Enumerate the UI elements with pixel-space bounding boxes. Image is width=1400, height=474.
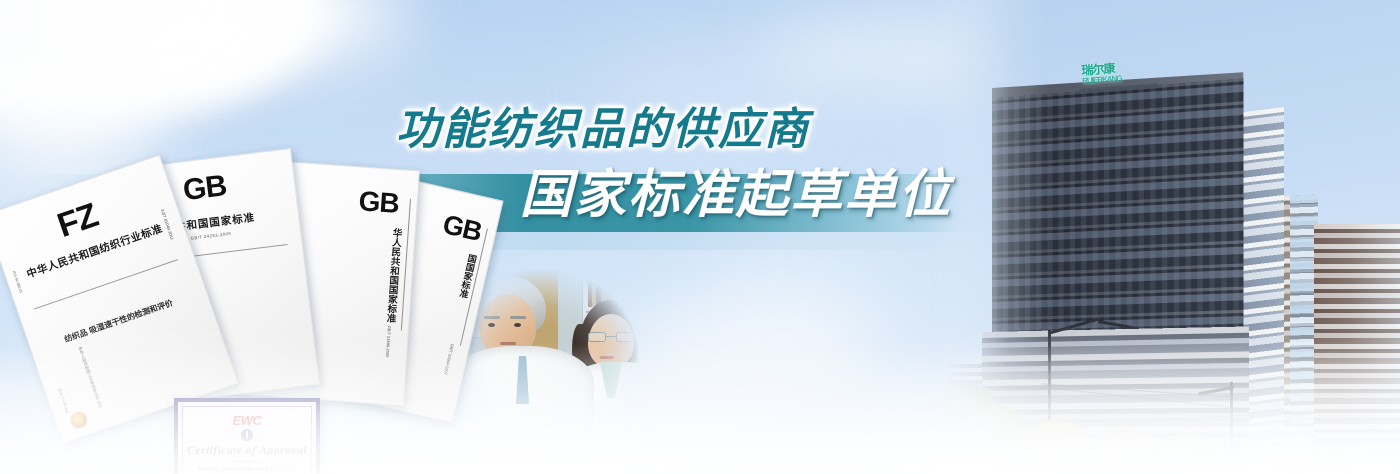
cloud-top-left-6 bbox=[120, 10, 250, 80]
certificate-company-name: Beijing Jisun High-tech Co., Ltd. bbox=[183, 466, 311, 473]
gb-logo-icon: GB bbox=[440, 211, 484, 246]
gb-logo-icon: GB bbox=[358, 187, 400, 218]
cloud-top-left-3 bbox=[150, 0, 410, 70]
eyeglasses-bridge bbox=[606, 336, 616, 337]
eyeglasses-lens-right bbox=[616, 332, 634, 342]
hero-banner: 瑞尔康 RUIERKANG bbox=[0, 0, 1400, 474]
fz-standard-issue-date: 2011-12-20 发布 bbox=[57, 387, 70, 414]
senior-scientist-brow-left bbox=[484, 316, 500, 319]
ewc-certificate-of-approval: EWC Certificate of Approval Awarded to B… bbox=[174, 398, 320, 474]
cloud-mid-right-2 bbox=[700, 250, 880, 330]
gb-standard-2-title: 华人民共和国国家标准 bbox=[382, 227, 403, 323]
cloud-top-left-2 bbox=[40, 0, 340, 90]
eyeglasses-lens-left bbox=[588, 332, 606, 342]
building-photo-bottom-fade bbox=[930, 324, 1400, 474]
certificate-heading: Certificate of Approval bbox=[183, 443, 311, 458]
rooftop-sign: 瑞尔康 RUIERKANG bbox=[1081, 59, 1157, 94]
headline-line-1: 功能纺织品的供应商 bbox=[0, 108, 1010, 152]
senior-scientist-brow-right bbox=[510, 316, 526, 319]
gb-standard-2-code: GB/T 21898-2008 bbox=[385, 326, 392, 358]
anchor-icon bbox=[241, 429, 253, 441]
fz-logo-icon: FZ bbox=[53, 198, 101, 243]
researcher-center-mouth bbox=[600, 356, 614, 359]
gb-logo-icon: GB bbox=[181, 171, 227, 206]
fz-standard-subtitle: 纺织品 吸湿速干性的检测和评价 bbox=[30, 286, 208, 356]
gb-standard-2-rule bbox=[401, 199, 411, 331]
cloud-top-right-2 bbox=[600, 55, 820, 125]
cloud-top-left-1 bbox=[0, 0, 300, 130]
ewc-logo-icon: EWC bbox=[183, 413, 311, 428]
certificate-awarded-label: Awarded to bbox=[183, 459, 311, 464]
gb-standard-3-code: GB/T 20944-2007 bbox=[443, 343, 455, 375]
senior-scientist-mouth bbox=[500, 342, 516, 345]
senior-scientist-eye-right bbox=[514, 323, 521, 327]
senior-scientist-eye-left bbox=[488, 323, 495, 327]
building-photo: 瑞尔康 RUIERKANG bbox=[930, 0, 1400, 474]
standards-and-certificates-group: GB 国国家标准 GB/T 20944-2007 的检测和评价 GB 华人民共和… bbox=[0, 150, 470, 474]
eyeglasses-icon bbox=[588, 332, 634, 342]
fz-standard-issuer: 中华人民共和国工业和信息化部 发布 bbox=[77, 346, 104, 410]
official-seal-icon bbox=[69, 410, 89, 430]
